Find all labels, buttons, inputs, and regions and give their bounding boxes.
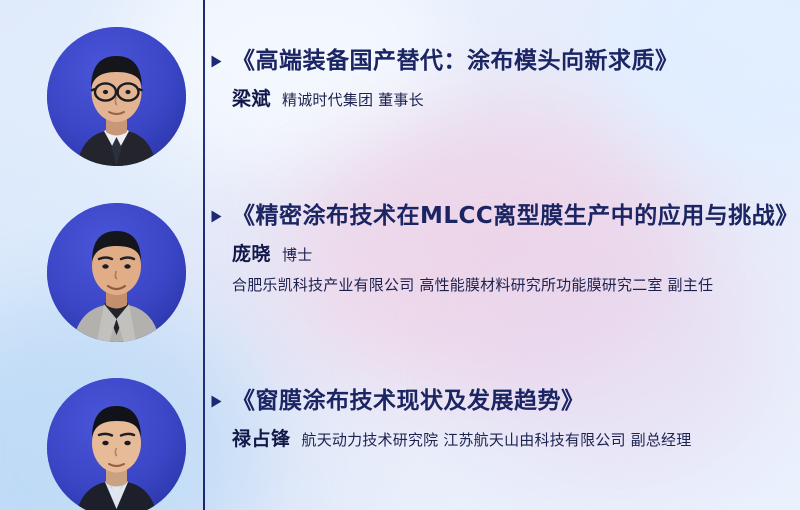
triangle-right-icon — [211, 395, 222, 408]
speaker-meta: 航天动力技术研究院 江苏航天山由科技有限公司 副总经理 — [302, 431, 692, 449]
list-item[interactable]: 《精密涂布技术在MLCC离型膜生产中的应用与挑战》 庞晓博士 合肥乐凯科技产业有… — [203, 200, 800, 297]
speaker-name: 梁斌 — [232, 88, 271, 110]
list-item[interactable]: 《高端装备国产替代：涂布模头向新求质》 梁斌精诚时代集团 董事长 — [203, 45, 800, 114]
talk-title-row: 《窗膜涂布技术现状及发展趋势》 — [203, 385, 800, 417]
speaker-entry-list: 《高端装备国产替代：涂布模头向新求质》 梁斌精诚时代集团 董事长 《精密涂布技术… — [203, 0, 800, 510]
triangle-right-icon — [211, 55, 222, 68]
speaker-line: 梁斌精诚时代集团 董事长 — [232, 86, 800, 114]
speaker-name: 庞晓 — [232, 243, 271, 265]
speaker-meta: 精诚时代集团 董事长 — [282, 91, 424, 109]
speaker-line: 庞晓博士 — [232, 241, 800, 269]
talk-title-row: 《精密涂布技术在MLCC离型膜生产中的应用与挑战》 — [203, 200, 800, 232]
talk-title-row: 《高端装备国产替代：涂布模头向新求质》 — [203, 45, 800, 77]
talk-title: 《高端装备国产替代：涂布模头向新求质》 — [232, 45, 679, 77]
talk-title: 《精密涂布技术在MLCC离型膜生产中的应用与挑战》 — [232, 200, 799, 232]
speaker-affiliation: 合肥乐凯科技产业有限公司 高性能膜材料研究所功能膜研究二室 副主任 — [232, 273, 800, 297]
avatar — [47, 378, 186, 510]
avatar-column — [0, 0, 203, 510]
avatar — [47, 203, 186, 342]
speaker-lineup-poster: 《高端装备国产替代：涂布模头向新求质》 梁斌精诚时代集团 董事长 《精密涂布技术… — [0, 0, 800, 510]
speaker-meta: 博士 — [282, 246, 312, 264]
speaker-line: 禄占锋航天动力技术研究院 江苏航天山由科技有限公司 副总经理 — [232, 426, 800, 454]
speaker-name: 禄占锋 — [232, 428, 291, 450]
avatar — [47, 27, 186, 166]
talk-title: 《窗膜涂布技术现状及发展趋势》 — [232, 385, 585, 417]
triangle-right-icon — [211, 210, 222, 223]
list-item[interactable]: 《窗膜涂布技术现状及发展趋势》 禄占锋航天动力技术研究院 江苏航天山由科技有限公… — [203, 385, 800, 454]
